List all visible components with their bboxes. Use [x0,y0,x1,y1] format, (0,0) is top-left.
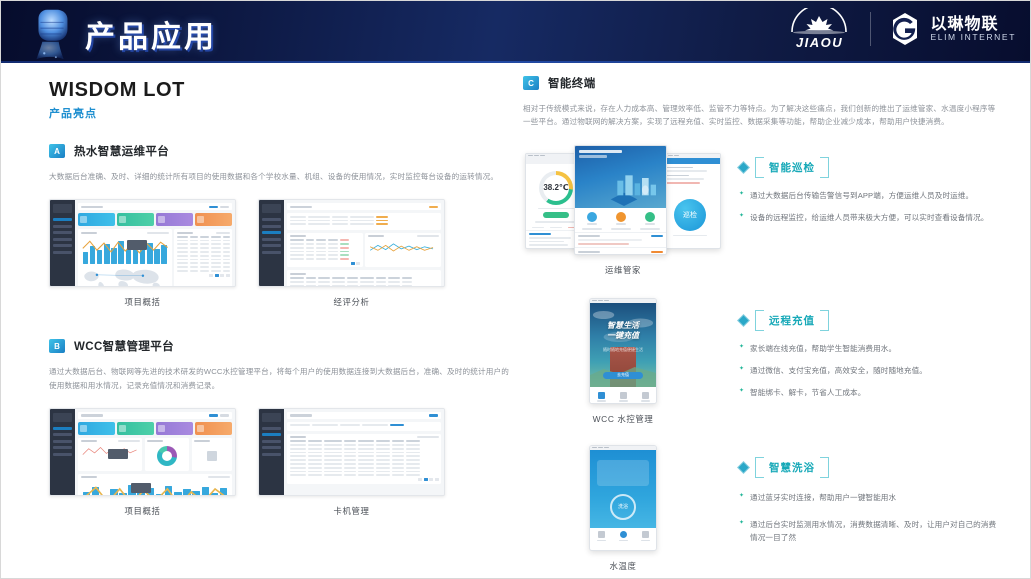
jiaou-logo: JIAOU [784,8,854,50]
section-title-b: WCC智慧管理平台 [74,338,174,354]
feature-row-recharge: 智慧生活一键充值 随时随地充值便捷生活 去充值 WCC 水控管理 [523,298,1000,425]
elim-cn-label: 以琳物联 [930,16,1016,33]
feature-bullet: 通过微信、支付宝充值，高效安全，随时随地充值。 [739,364,1000,377]
info-panel [192,438,232,471]
jiaou-label: JIAOU [796,35,843,50]
gauge-value: 38.2℃ [539,171,573,205]
filter-panel [287,213,441,229]
stat-card [117,422,154,435]
phone-wcc-screen: 智慧生活一键充值 随时随地充值便捷生活 去充值 [589,298,657,404]
section-header-c: C 智能终端 [523,75,1000,91]
brand-subtitle: 产品亮点 [49,105,509,121]
logo-divider [870,12,871,46]
section-title-a: 热水智慧运维平台 [74,143,169,159]
screenshot-caption: 经评分析 [258,296,445,308]
tab-item [597,531,606,541]
screenshot-caption: 项目概括 [49,505,236,517]
elim-logo: 以琳物联 ELIM INTERNET [887,11,1016,47]
dashboard-sidebar [259,409,284,495]
phone-group-ops[interactable]: 38.2℃ [523,145,723,276]
phone-watertemp-screen: 洗浴 [589,445,657,551]
tab-item [619,392,628,402]
dashboard-card-machine-mock [258,408,445,496]
line-overlay-icon [81,480,230,496]
screenshot-row-b: 项目概括 [49,408,509,517]
stat-card-row [78,213,232,226]
stat-card [156,213,193,226]
tab-item [597,392,606,402]
hero-title: 智慧生活一键充值 [590,321,656,343]
stat-card [195,422,232,435]
elim-text: 以琳物联 ELIM INTERNET [930,16,1016,42]
phone-caption: 水温度 [610,560,637,572]
chart-tooltip [127,240,147,250]
brand-title: WISDOM LOT [49,79,509,102]
search-filter-panel [287,422,441,431]
dashboard-analysis-mock [258,199,445,287]
feature-text-recharge: 远程充值 家长端在线充值，帮助学生智能消费用水。 通过微信、支付宝充值，高效安全… [739,298,1000,409]
stat-card-row [78,422,232,435]
feature-text-bathing: 智慧洗浴 通过蓝牙实时连接，帮助用户一键智能用水 通过后台实时监测用水情况，消费… [739,445,1000,554]
logo-group: JIAOU 以琳物联 ELIM INTERNET [784,8,1016,50]
dashboard-content [75,200,235,286]
chart-panel [78,229,172,287]
phone-caption: WCC 水控管理 [593,413,654,425]
feature-bullet-list: 家长端在线充值，帮助学生智能消费用水。 通过微信、支付宝充值，高效安全，随时随地… [739,342,1000,400]
status-button [543,212,569,218]
diamond-icon [737,161,750,174]
recharge-button[interactable]: 去充值 [603,372,643,379]
recharge-hero-banner: 智慧生活一键充值 随时随地充值便捷生活 去充值 [590,303,656,387]
screenshot-item[interactable]: 经评分析 [258,199,445,308]
page-header: 产品应用 JIAOU 以琳物联 ELIM INTERNET [1,1,1030,63]
section-title-c: 智能终端 [548,75,596,91]
feature-tag: 远程充值 [755,310,829,331]
bar-chart-panel [78,474,232,496]
right-column: C 智能终端 相对于传统模式来说，存在人力成本高、管理效率低、监管不力等特点。为… [517,75,1000,579]
section-badge-b: B [49,339,65,353]
section-desc-a: 大数据后台准确、及时、详细的统计所有项目的使用数据和各个学校水量、机组、设备的使… [49,170,509,183]
trend-chart-panel [365,233,441,268]
section-badge-a: A [49,144,65,158]
feature-bullet: 智能绑卡、解卡，节省人工成本。 [739,386,1000,399]
list-item [575,232,666,247]
tab-item [641,531,650,541]
tab-item [619,531,628,541]
dashboard-wcc-overview-mock [49,408,236,496]
feature-bullet: 通过蓝牙实时连接，帮助用户一键智能用水 [739,491,1000,504]
screenshot-caption: 卡机管理 [258,505,445,517]
dashboard-sidebar [259,200,284,286]
summary-table-panel [287,270,441,287]
hero-subtitle: 随时随地充值便捷生活 [590,347,656,353]
feature-tag: 智能巡检 [755,157,829,178]
feature-bullet: 设备的远程监控，给运维人员带来极大方便，可以实时查看设备情况。 [739,211,1000,224]
dashboard-content [75,409,235,495]
feature-tag: 智慧洗浴 [755,457,829,478]
line-overlay-icon [81,236,169,263]
record-table-panel [287,233,363,268]
screenshot-item[interactable]: 卡机管理 [258,408,445,517]
phone-inspection-screen: 巡检 [659,153,721,249]
world-map-panel [81,266,170,288]
donut-chart-icon [157,446,177,466]
dashboard-content [284,409,444,495]
chart-tooltip [131,483,151,493]
line-chart-panel [78,438,142,471]
diamond-icon [737,314,750,327]
phone-group-watertemp[interactable]: 洗浴 水温度 [523,445,723,572]
data-table-panel [174,229,232,287]
tab-item [641,392,650,402]
stat-card [195,213,232,226]
product-application-page: 产品应用 JIAOU 以琳物联 ELIM INTERNET [0,0,1031,579]
screenshot-item[interactable]: 项目概括 [49,199,236,308]
circle-label: 洗浴 [618,503,628,510]
jiaou-mark-icon [784,8,854,38]
feature-row-inspection: 38.2℃ [523,145,1000,276]
dashboard-content [284,200,444,286]
stat-card [156,422,193,435]
section-desc-c: 相对于传统模式来说，存在人力成本高、管理效率低、监管不力等特点。为了解决这些痛点… [523,102,1000,129]
screenshot-item[interactable]: 项目概括 [49,408,236,517]
list-item [575,247,666,255]
temperature-gauge-icon: 38.2℃ [539,171,573,205]
start-circle-button[interactable]: 洗浴 [610,494,636,520]
feature-bullet: 家长端在线充值，帮助学生智能消费用水。 [739,342,1000,355]
fist-icon [23,3,81,63]
feature-bullet-list: 通过蓝牙实时连接，帮助用户一键智能用水 通过后台实时监测用水情况，消费数据清晰、… [739,491,1000,545]
screenshot-row-a: 项目概括 [49,199,509,308]
feature-bullet-list: 通过大数据后台传输告警信号到APP端，方便运维人员及时运维。 设备的远程监控，给… [739,189,1000,225]
building-illustration-icon [604,164,666,208]
dual-line-icon [368,239,439,256]
page-body: WISDOM LOT 产品亮点 A 热水智慧运维平台 大数据后台准确、及时、详细… [1,63,1030,579]
watertemp-hero: 洗浴 [590,450,656,528]
circle-label: 巡检 [683,210,697,220]
feature-text-inspection: 智能巡检 通过大数据后台传输告警信号到APP端，方便运维人员及时运维。 设备的远… [739,145,1000,234]
section-header-b: B WCC智慧管理平台 [49,338,509,354]
dashboard-sidebar [50,409,75,495]
donut-chart-panel [145,438,189,471]
section-badge-c: C [523,76,539,90]
elim-mark-icon [887,11,923,47]
stat-card [78,213,115,226]
section-desc-b: 通过大数据后台、物联网等先进的技术研发的WCC水控管理平台，将每个用户的使用数据… [49,365,509,392]
left-column: WISDOM LOT 产品亮点 A 热水智慧运维平台 大数据后台准确、及时、详细… [17,75,517,579]
page-title: 产品应用 [85,12,217,56]
inspection-circle-button[interactable]: 巡检 [674,199,706,231]
app-hero-banner [575,146,666,208]
dashboard-sidebar [50,200,75,286]
phone-ops-manager-screen [574,145,667,255]
device-card [597,460,649,486]
chart-tooltip [108,449,128,459]
section-header-a: A 热水智慧运维平台 [49,143,509,159]
bottom-tab-bar[interactable] [590,528,656,545]
quick-action-row [575,208,666,228]
dashboard-overview-mock [49,199,236,287]
feature-bullet: 通过后台实时监测用水情况，消费数据清晰、及时，让用户对自己的消费情况一目了然 [739,518,1000,545]
diamond-icon [737,461,750,474]
phone-group-wcc[interactable]: 智慧生活一键充值 随时随地充值便捷生活 去充值 WCC 水控管理 [523,298,723,425]
elim-en-label: ELIM INTERNET [930,33,1016,42]
screenshot-caption: 项目概括 [49,296,236,308]
bottom-tab-bar[interactable] [590,387,656,404]
feature-row-bathing: 洗浴 水温度 智慧洗浴 [523,445,1000,572]
stat-card [78,422,115,435]
phone-caption: 运维管家 [605,264,641,276]
feature-bullet: 通过大数据后台传输告警信号到APP端，方便运维人员及时运维。 [739,189,1000,202]
stat-card [117,213,154,226]
machine-table-panel [287,434,441,484]
